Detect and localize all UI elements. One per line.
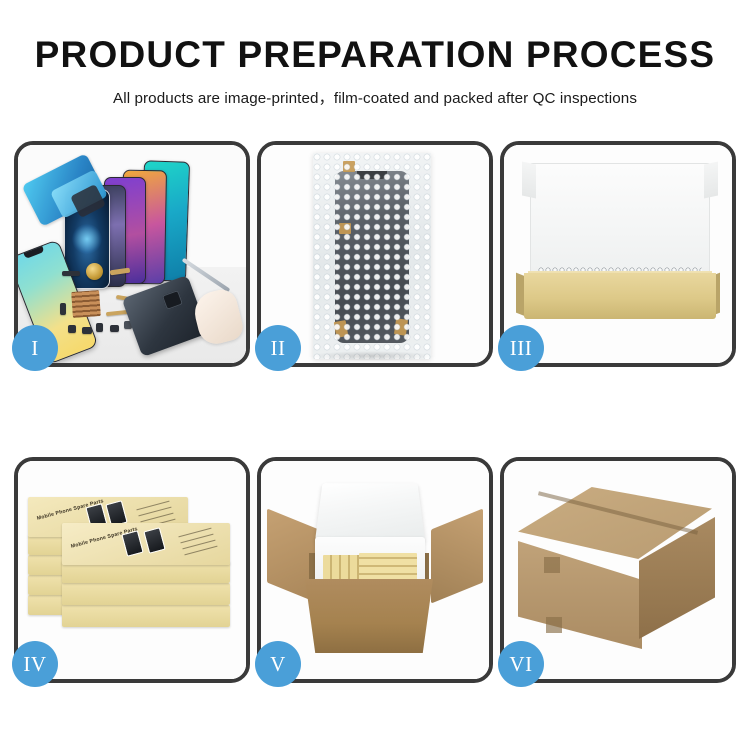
yellow-box-body — [524, 273, 716, 319]
step-2-image — [261, 145, 489, 363]
white-inner-lid — [530, 163, 710, 281]
stacked-box — [62, 583, 230, 605]
step-1-badge: I — [12, 325, 58, 371]
page-subtitle: All products are image-printed，film-coat… — [0, 86, 750, 108]
bubble-wrap-bag — [313, 153, 431, 359]
step-4-image: Mobile Phone Spare Parts Mobi — [18, 461, 246, 679]
bubble-texture — [313, 153, 431, 359]
speaker-coil-part — [86, 263, 103, 280]
box-stack: Mobile Phone Spare Parts Mobi — [28, 479, 238, 671]
carton-flap-right — [431, 508, 483, 603]
foam-box-photo — [261, 461, 489, 679]
sealed-carton-photo — [504, 461, 732, 679]
process-step-4[interactable]: Mobile Phone Spare Parts Mobi — [14, 457, 250, 683]
open-inner-box-photo — [504, 145, 732, 363]
step-6-image — [504, 461, 732, 679]
process-step-6[interactable]: VI — [500, 457, 736, 683]
foam-box-lid — [315, 483, 425, 541]
step-4-badge: IV — [12, 641, 58, 687]
spare-parts-photo — [18, 145, 246, 363]
step-5-badge: V — [255, 641, 301, 687]
chip-part — [110, 325, 119, 332]
bubble-wrap-photo — [261, 145, 489, 363]
chip-part — [62, 271, 80, 276]
carton-tab — [546, 617, 562, 633]
box-art-phone — [121, 530, 143, 557]
stacked-box-top-front: Mobile Phone Spare Parts — [62, 523, 230, 565]
step-3-image — [504, 145, 732, 363]
chip-part — [82, 327, 92, 334]
stacked-box — [62, 605, 230, 627]
header: PRODUCT PREPARATION PROCESS All products… — [0, 36, 750, 108]
pcb-board-part — [71, 290, 101, 318]
box-art-phone — [143, 527, 165, 554]
process-step-5[interactable]: V — [257, 457, 493, 683]
stacked-boxes-photo: Mobile Phone Spare Parts Mobi — [18, 461, 246, 679]
step-3-badge: III — [498, 325, 544, 371]
process-step-3[interactable]: III — [500, 141, 736, 367]
step-5-image — [261, 461, 489, 679]
step-2-badge: II — [255, 325, 301, 371]
carton-front-wall — [305, 579, 433, 653]
chip-part — [60, 303, 66, 315]
step-6-badge: VI — [498, 641, 544, 687]
drop-shadow — [311, 351, 433, 361]
product-preparation-infographic: PRODUCT PREPARATION PROCESS All products… — [0, 0, 750, 750]
process-step-grid: I II — [14, 141, 736, 701]
step-1-image — [18, 145, 246, 363]
chip-part — [96, 323, 103, 332]
process-step-1[interactable]: I — [14, 141, 250, 367]
page-title: PRODUCT PREPARATION PROCESS — [0, 36, 750, 75]
process-step-2[interactable]: II — [257, 141, 493, 367]
carton-tab — [544, 557, 560, 573]
chip-part — [68, 325, 76, 333]
carton-left-face — [518, 541, 642, 649]
